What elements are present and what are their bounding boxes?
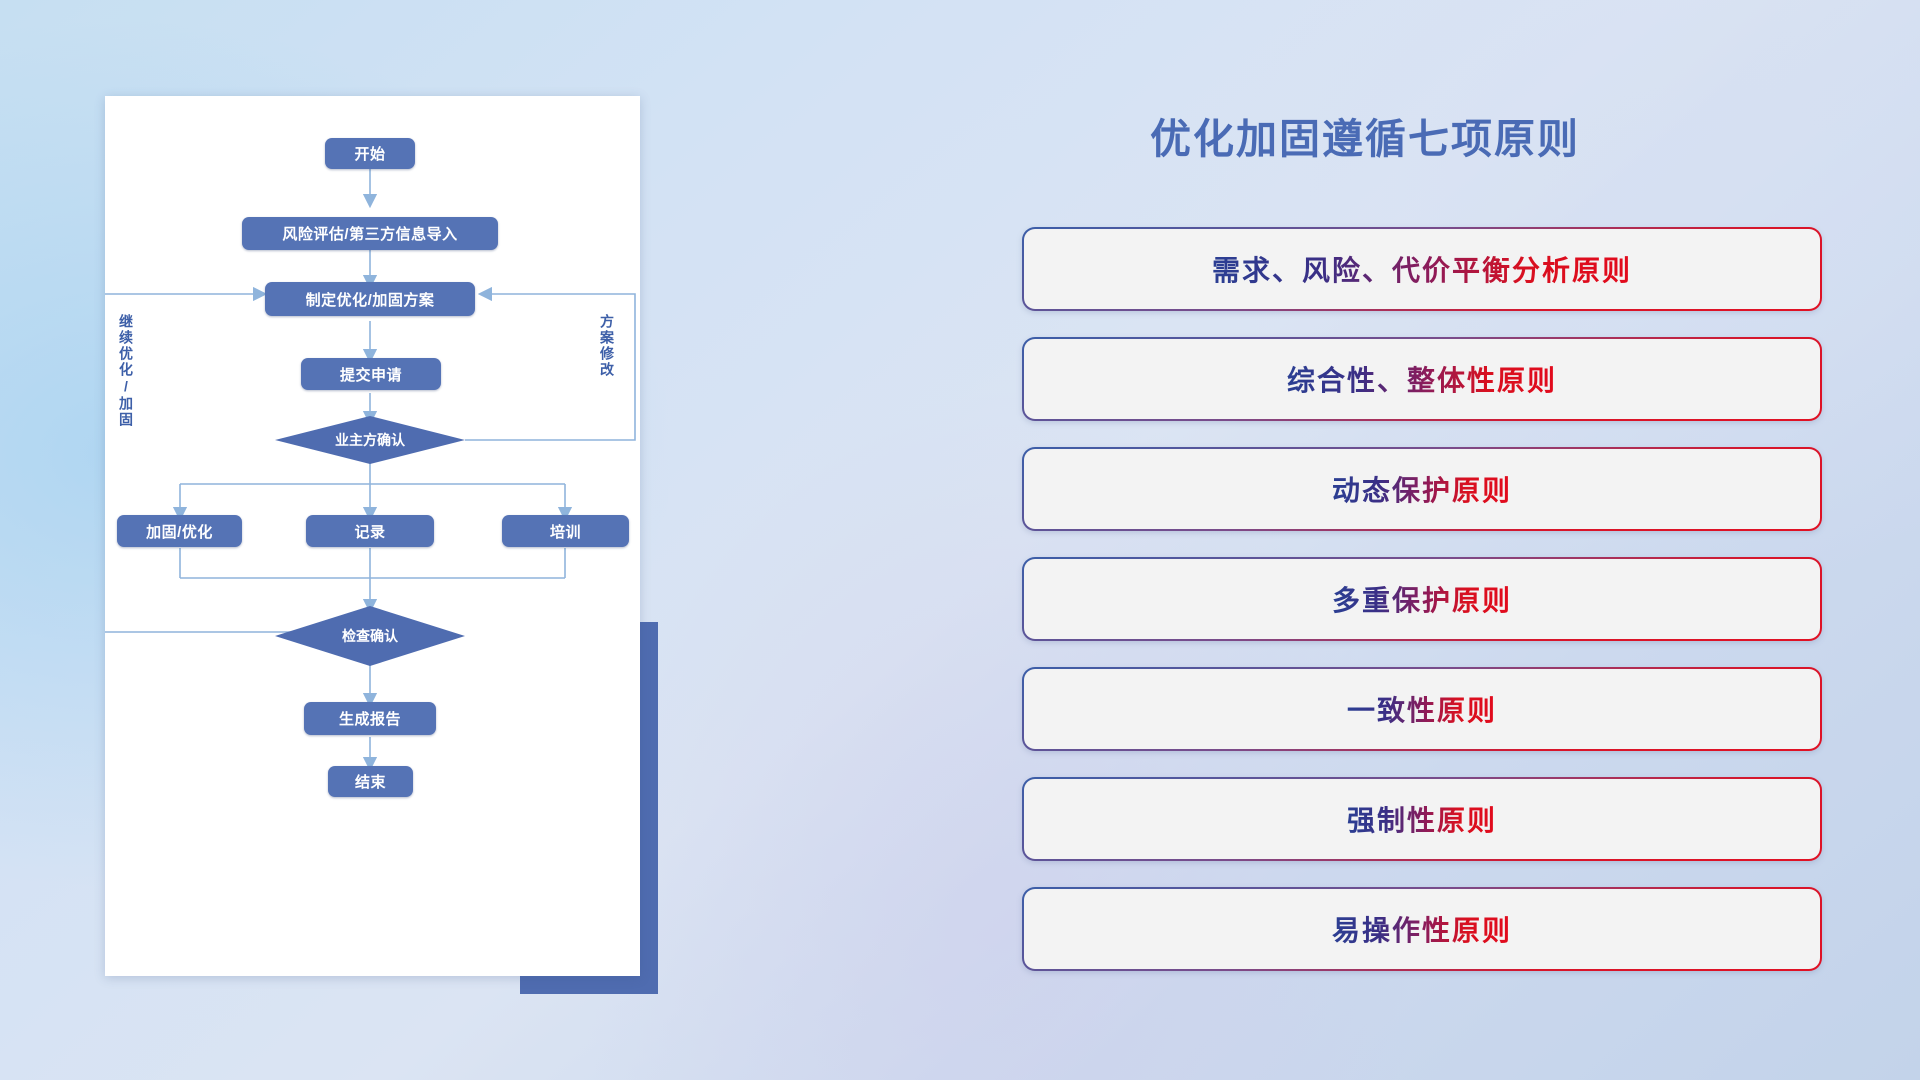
principle-card-inner: 动态保护原则 (1024, 449, 1820, 529)
principle-card-inner: 需求、风险、代价平衡分析原则 (1024, 229, 1820, 309)
flow-node-label: 提交申请 (340, 364, 402, 385)
principle-card[interactable]: 一致性原则 (1022, 667, 1822, 751)
flow-node-label: 风险评估/第三方信息导入 (282, 223, 457, 244)
flow-node-reinforce-optimize[interactable]: 加固/优化 (117, 515, 242, 547)
principles-list: 需求、风险、代价平衡分析原则 综合性、整体性原则 动态保护原则 多重保护原则 一… (1022, 227, 1822, 997)
flow-node-plan[interactable]: 制定优化/加固方案 (265, 282, 475, 316)
page-title: 优化加固遵循七项原则 (1150, 105, 1580, 165)
principle-label: 强制性原则 (1347, 799, 1497, 839)
principle-card-inner: 综合性、整体性原则 (1024, 339, 1820, 419)
principle-card[interactable]: 动态保护原则 (1022, 447, 1822, 531)
principle-label: 综合性、整体性原则 (1287, 359, 1557, 399)
principle-label: 多重保护原则 (1332, 579, 1512, 619)
principle-card[interactable]: 综合性、整体性原则 (1022, 337, 1822, 421)
flow-node-label: 业主方确认 (335, 430, 405, 450)
flow-node-record[interactable]: 记录 (306, 515, 434, 547)
flow-node-label: 检查确认 (342, 626, 398, 646)
principle-card[interactable]: 强制性原则 (1022, 777, 1822, 861)
flow-node-label: 开始 (354, 143, 385, 164)
flow-node-check-confirm[interactable]: 检查确认 (275, 606, 465, 666)
principle-card-inner: 多重保护原则 (1024, 559, 1820, 639)
principle-card[interactable]: 易操作性原则 (1022, 887, 1822, 971)
flow-node-label: 加固/优化 (146, 521, 213, 542)
principle-card[interactable]: 多重保护原则 (1022, 557, 1822, 641)
principle-label: 易操作性原则 (1332, 909, 1512, 949)
flow-node-submit-application[interactable]: 提交申请 (301, 358, 441, 390)
flow-node-owner-confirm[interactable]: 业主方确认 (275, 416, 465, 464)
flow-node-generate-report[interactable]: 生成报告 (304, 702, 436, 735)
flow-node-label: 培训 (550, 521, 581, 542)
flow-edge-label-plan-revision: 方案修改 (600, 314, 614, 378)
principle-label: 需求、风险、代价平衡分析原则 (1212, 249, 1632, 289)
principle-card-inner: 易操作性原则 (1024, 889, 1820, 969)
flow-node-label: 生成报告 (339, 708, 401, 729)
flow-edge-label-continue-optimize: 继续优化/加固 (119, 314, 133, 428)
flow-node-risk-assessment[interactable]: 风险评估/第三方信息导入 (242, 217, 498, 250)
principle-label: 动态保护原则 (1332, 469, 1512, 509)
flow-node-label: 制定优化/加固方案 (306, 289, 435, 310)
flowchart-panel: 开始 风险评估/第三方信息导入 制定优化/加固方案 提交申请 业主方确认 加固/… (105, 96, 640, 976)
principle-label: 一致性原则 (1347, 689, 1497, 729)
flow-node-training[interactable]: 培训 (502, 515, 629, 547)
flow-node-label: 记录 (354, 521, 385, 542)
principle-card-inner: 强制性原则 (1024, 779, 1820, 859)
flow-node-label: 结束 (355, 771, 386, 792)
flow-node-end[interactable]: 结束 (328, 766, 413, 797)
principle-card[interactable]: 需求、风险、代价平衡分析原则 (1022, 227, 1822, 311)
principle-card-inner: 一致性原则 (1024, 669, 1820, 749)
flow-node-start[interactable]: 开始 (325, 138, 415, 169)
